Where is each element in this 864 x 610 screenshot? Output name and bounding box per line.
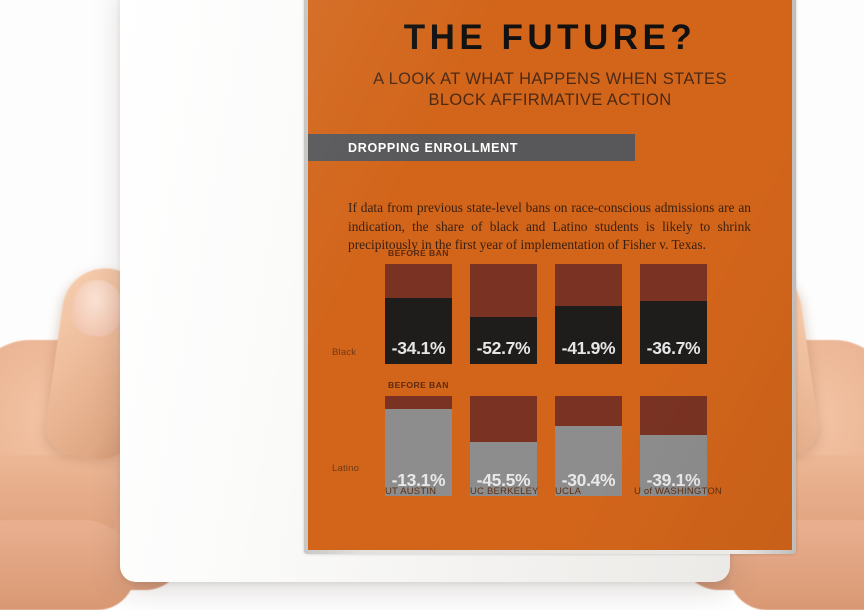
chart-group-black: Black BEFORE BAN AFTER BAN -34.1% (308, 250, 792, 364)
enrollment-chart: Black BEFORE BAN AFTER BAN -34.1% (308, 250, 792, 496)
bar-segment-before (555, 264, 622, 306)
bar-black-ucla[interactable]: -41.9% (555, 264, 622, 364)
x-tick-uc-berkeley: UC BERKELEY (470, 486, 539, 497)
tablet-screen[interactable]: THE FUTURE? A LOOK AT WHAT HAPPENS WHEN … (308, 0, 792, 550)
bar-latino-ut-austin[interactable]: -13.1% (385, 396, 452, 496)
bar-segment-before (640, 264, 707, 301)
bar-value-label: -41.9% (562, 338, 616, 364)
section-header-label: DROPPING ENROLLMENT (348, 141, 518, 155)
bar-segment-after: -34.1% (385, 298, 452, 364)
bar-latino-u-of-washington[interactable]: -39.1% (640, 396, 707, 496)
bar-segment-before (640, 396, 707, 435)
bar-latino-ucla[interactable]: -30.4% (555, 396, 622, 496)
chart-bars-black: -34.1% -52.7% -41.9% (385, 250, 785, 364)
page-subtitle-line-2: BLOCK AFFIRMATIVE ACTION (330, 90, 770, 111)
bar-segment-before (385, 264, 452, 298)
bar-segment-before (555, 396, 622, 426)
bar-segment-before (385, 396, 452, 409)
bar-segment-after: -13.1% (385, 409, 452, 496)
bar-black-ut-austin[interactable]: -34.1% (385, 264, 452, 364)
left-hand-knuckle-lower (0, 520, 135, 610)
bar-segment-before (470, 264, 537, 317)
bar-segment-before (470, 396, 537, 442)
bar-segment-after: -36.7% (640, 301, 707, 364)
tablet-device: THE FUTURE? A LOOK AT WHAT HAPPENS WHEN … (120, 0, 730, 582)
photo-scene: THE FUTURE? A LOOK AT WHAT HAPPENS WHEN … (0, 0, 864, 576)
bar-value-label: -52.7% (477, 338, 531, 364)
chart-group-label-black: Black (332, 347, 356, 358)
bar-segment-after: -52.7% (470, 317, 537, 364)
bar-black-u-of-washington[interactable]: -36.7% (640, 264, 707, 364)
chart-group-latino: Latino BEFORE BAN AFTER BAN -13.1% (308, 382, 792, 496)
x-tick-ucla: UCLA (555, 486, 581, 497)
bar-value-label: -36.7% (647, 338, 701, 364)
bar-segment-after: -41.9% (555, 306, 622, 364)
bar-value-label: -34.1% (392, 338, 446, 364)
page-title: THE FUTURE? (308, 20, 792, 55)
deck-paragraph: If data from previous state-level bans o… (348, 199, 751, 255)
section-header-bar: DROPPING ENROLLMENT (308, 134, 635, 161)
page-subtitle: A LOOK AT WHAT HAPPENS WHEN STATES BLOCK… (330, 69, 770, 111)
page-subtitle-line-1: A LOOK AT WHAT HAPPENS WHEN STATES (330, 69, 770, 90)
bar-latino-uc-berkeley[interactable]: -45.5% (470, 396, 537, 496)
x-tick-ut-austin: UT AUSTIN (385, 486, 436, 497)
bar-black-uc-berkeley[interactable]: -52.7% (470, 264, 537, 364)
x-tick-u-of-washington: U of WASHINGTON (634, 486, 722, 497)
chart-bars-latino: -13.1% -45.5% -30.4% (385, 382, 785, 496)
chart-group-label-latino: Latino (332, 463, 359, 474)
